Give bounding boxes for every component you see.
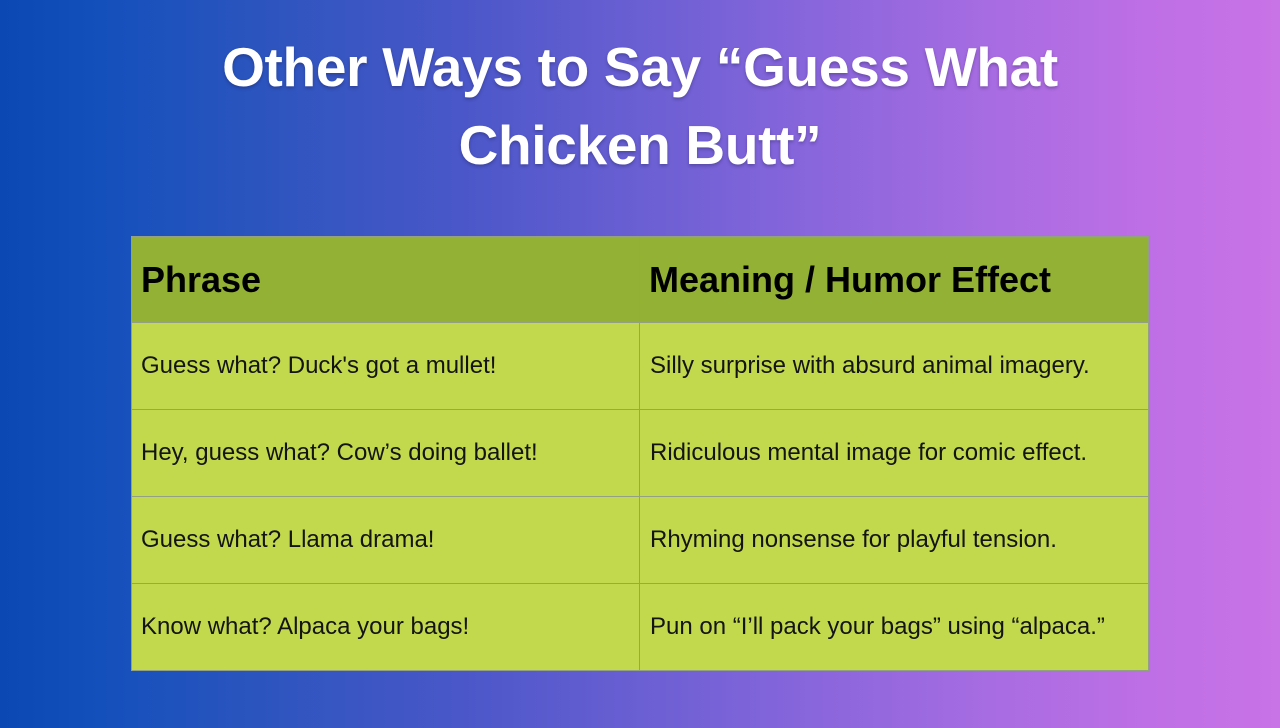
table-row: Guess what? Duck's got a mullet! Silly s…	[132, 323, 1149, 410]
table-row: Guess what? Llama drama! Rhyming nonsens…	[132, 497, 1149, 584]
table-header-row: Phrase Meaning / Humor Effect	[132, 237, 1149, 323]
cell-phrase: Guess what? Duck's got a mullet!	[132, 323, 640, 410]
table-row: Know what? Alpaca your bags! Pun on “I’l…	[132, 584, 1149, 671]
phrase-table-container: Phrase Meaning / Humor Effect Guess what…	[131, 236, 1148, 670]
cell-phrase: Know what? Alpaca your bags!	[132, 584, 640, 671]
column-header-phrase: Phrase	[132, 237, 640, 323]
table-row: Hey, guess what? Cow’s doing ballet! Rid…	[132, 410, 1149, 497]
phrase-table: Phrase Meaning / Humor Effect Guess what…	[131, 236, 1149, 671]
page-title: Other Ways to Say “Guess What Chicken Bu…	[100, 28, 1180, 184]
cell-meaning: Ridiculous mental image for comic effect…	[640, 410, 1149, 497]
table-body: Guess what? Duck's got a mullet! Silly s…	[132, 323, 1149, 671]
cell-phrase: Guess what? Llama drama!	[132, 497, 640, 584]
slide-canvas: Other Ways to Say “Guess What Chicken Bu…	[0, 0, 1280, 728]
cell-meaning: Pun on “I’ll pack your bags” using “alpa…	[640, 584, 1149, 671]
cell-meaning: Silly surprise with absurd animal imager…	[640, 323, 1149, 410]
column-header-meaning: Meaning / Humor Effect	[640, 237, 1149, 323]
table-header: Phrase Meaning / Humor Effect	[132, 237, 1149, 323]
cell-meaning: Rhyming nonsense for playful tension.	[640, 497, 1149, 584]
cell-phrase: Hey, guess what? Cow’s doing ballet!	[132, 410, 640, 497]
